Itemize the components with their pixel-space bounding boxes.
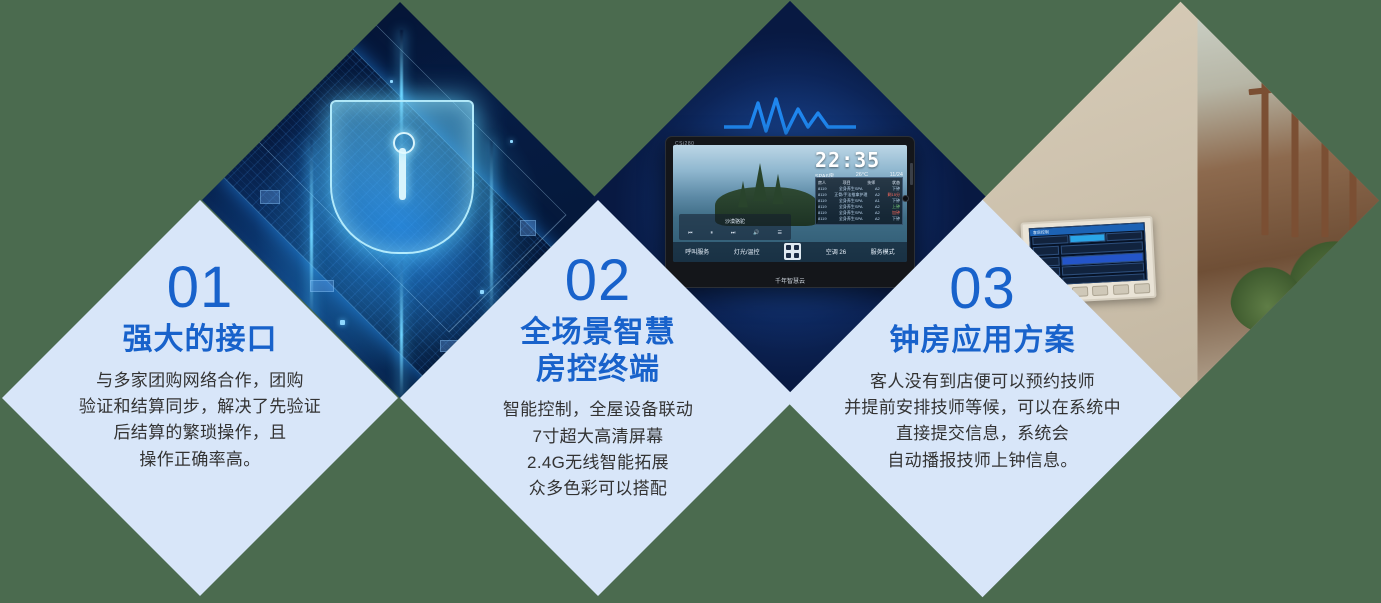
panel-number: 03 <box>949 261 1016 316</box>
shield-graphic <box>330 100 474 254</box>
desc-line: 智能控制，全屋设备联动 <box>503 397 693 423</box>
panel-button <box>1134 282 1151 293</box>
desc-line: 2.4G无线智能拓展 <box>503 450 693 476</box>
tab-technician-call[interactable] <box>1069 233 1105 243</box>
dock-service-mode[interactable]: 服务模式 <box>871 247 895 256</box>
media-title: 沙漠骆驼 <box>725 218 745 225</box>
page-title: 强大的接口 <box>123 322 278 359</box>
panel-number: 02 <box>565 253 632 308</box>
camera-icon <box>902 195 909 202</box>
dock-aircon[interactable]: 空调 26 <box>826 247 846 256</box>
tablet-side-button[interactable] <box>910 163 913 185</box>
prev-icon[interactable]: ⏮ <box>688 230 693 236</box>
desc-line: 直接提交信息，系统会 <box>844 421 1121 447</box>
table-row: 8119全身养生SPAA2下钟 <box>818 216 900 222</box>
pause-icon[interactable]: ⏸ <box>710 230 713 236</box>
apps-grid-icon[interactable] <box>784 243 801 260</box>
tablet-bezel: CSi280 22:35 SPA6房 26°C 11/24 <box>665 136 915 288</box>
desc-line: 并提前安排技师等候，可以在系统中 <box>844 395 1121 421</box>
tablet-dock[interactable]: 呼叫服务 灯光/温控 空调 26 服务模式 <box>673 242 907 262</box>
dock-call-service[interactable]: 呼叫服务 <box>685 247 709 256</box>
panel-title-line: 全场景智慧 <box>521 315 676 352</box>
desc-line: 操作正确率高。 <box>79 447 321 473</box>
tablet-brand-bottom: 千年智慧云 <box>775 276 805 285</box>
next-icon[interactable]: ⏭ <box>731 230 736 236</box>
desc-line: 客人没有到店便可以预约技师 <box>844 368 1121 394</box>
feature-diamond-grid: CSi280 22:35 SPA6房 26°C 11/24 <box>0 0 1381 603</box>
tablet-screen[interactable]: 22:35 SPA6房 26°C 11/24 房人 项目 技师 状态 <box>673 145 907 262</box>
panel-button <box>1092 285 1109 296</box>
desc-line: 自动播报技师上钟信息。 <box>844 447 1121 473</box>
tree-icon <box>773 174 784 204</box>
page-title: 全场景智慧 房控终端 <box>521 315 676 388</box>
desc-line: 验证和结算同步，解决了先验证 <box>79 394 321 420</box>
volume-icon[interactable]: 🔊 <box>753 230 759 236</box>
panel-title-line: 房控终端 <box>521 352 676 389</box>
light-beam <box>310 140 313 330</box>
desc-line: 7寸超大高清屏幕 <box>503 424 693 450</box>
panel-description: 智能控制，全屋设备联动 7寸超大高清屏幕 2.4G无线智能拓展 众多色彩可以搭配 <box>503 397 693 502</box>
tree-icon <box>738 181 748 208</box>
tree-icon <box>753 163 767 201</box>
page-title: 钟房应用方案 <box>890 323 1076 360</box>
panel-right-list[interactable] <box>1061 241 1146 286</box>
clock-time: 22:35 <box>815 150 903 170</box>
tab-massage[interactable] <box>1032 235 1068 245</box>
panel-description: 客人没有到店便可以预约技师 并提前安排技师等候，可以在系统中 直接提交信息，系统… <box>844 368 1121 473</box>
panel-title-line: 强大的接口 <box>123 322 278 359</box>
desc-line: 后结算的繁琐操作，且 <box>79 420 321 446</box>
light-beam <box>400 260 403 398</box>
panel-description: 与多家团购网络合作，团购 验证和结算同步，解决了先验证 后结算的繁琐操作，且 操… <box>79 368 321 473</box>
service-list[interactable]: 房人 项目 技师 状态 8119全身养生SPAA2下钟 8119正骨/手法推拿护… <box>815 177 903 225</box>
tab-light-ac[interactable] <box>1106 231 1142 241</box>
desc-line: 与多家团购网络合作，团购 <box>79 368 321 394</box>
panel-button <box>1113 283 1130 294</box>
clock-widget: 22:35 SPA6房 26°C 11/24 <box>815 150 903 180</box>
light-beam <box>490 140 493 330</box>
pulse-wave-icon <box>724 93 856 141</box>
dock-light-temp[interactable]: 灯光/温控 <box>734 247 760 256</box>
desc-line: 众多色彩可以搭配 <box>503 476 693 502</box>
media-player[interactable]: 沙漠骆驼 ⏮ ⏸ ⏭ 🔊 ☰ <box>679 214 791 240</box>
panel-title-line: 钟房应用方案 <box>890 323 1076 360</box>
panel-number: 01 <box>167 260 234 315</box>
playlist-icon[interactable]: ☰ <box>778 230 782 236</box>
